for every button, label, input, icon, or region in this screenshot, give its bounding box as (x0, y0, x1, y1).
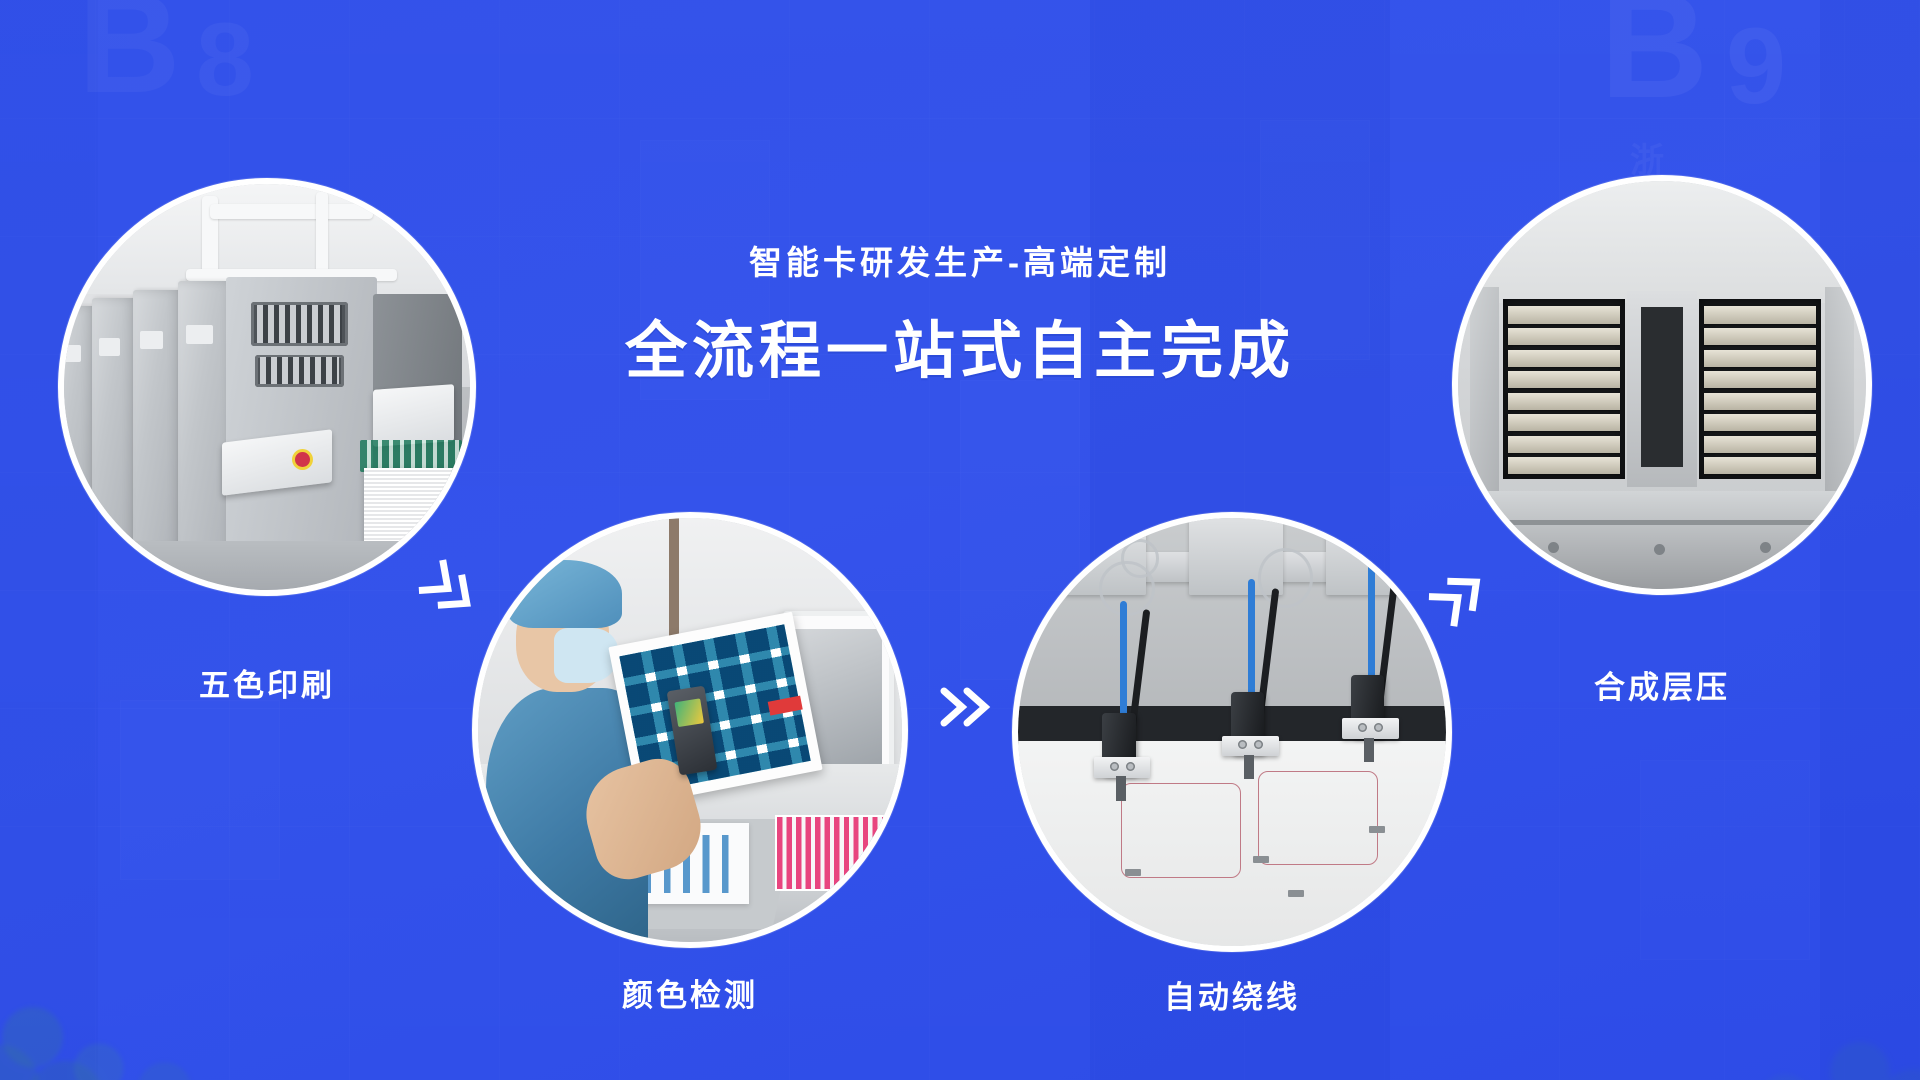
color-inspection-photo (478, 518, 902, 942)
step-caption-1: 五色印刷 (58, 660, 476, 705)
double-chevron-right-icon-2 (938, 684, 994, 730)
printing-press-photo (64, 184, 470, 590)
promo-banner: B 8 B 9 浙 智能卡研发生产-高端定制 全流程一站式自主完成 (0, 0, 1920, 1080)
step-caption-3: 自动绕线 (1012, 972, 1452, 1017)
lamination-press-photo (1458, 181, 1866, 589)
step-circle-4[interactable] (1452, 175, 1872, 595)
step-caption-2: 颜色检测 (472, 970, 908, 1015)
step-caption-4: 合成层压 (1452, 662, 1872, 707)
step-circle-3[interactable] (1012, 512, 1452, 952)
step-circle-2[interactable] (472, 512, 908, 948)
step-circle-1[interactable] (58, 178, 476, 596)
winding-machine-photo (1018, 518, 1446, 946)
